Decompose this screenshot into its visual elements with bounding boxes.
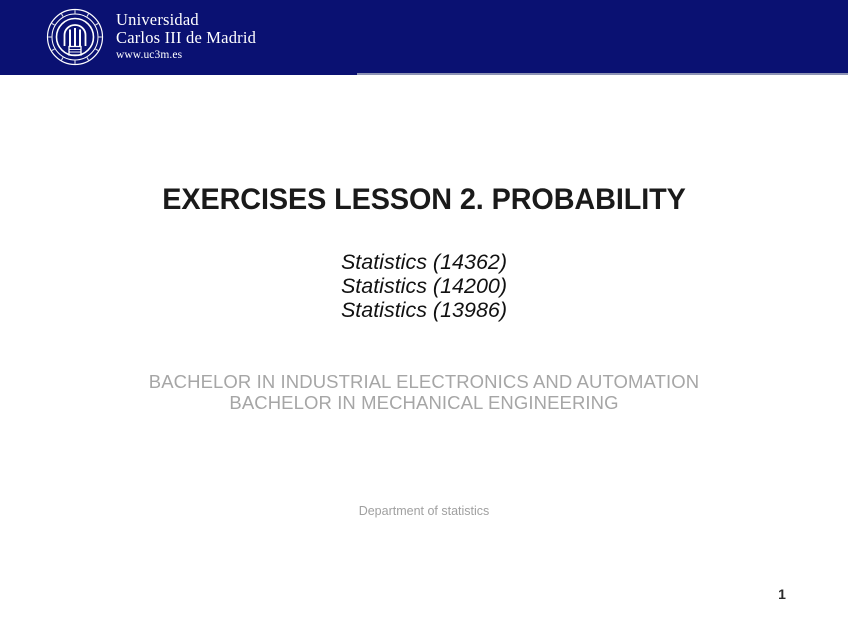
university-wordmark: Universidad Carlos III de Madrid www.uc3… (116, 11, 256, 62)
header-underline-accent (357, 73, 848, 75)
slide-title: EXERCISES LESSON 2. PROBABILITY (17, 183, 831, 217)
page-number: 1 (772, 586, 792, 602)
department-label: Department of statistics (0, 504, 848, 518)
degree-program-item: BACHELOR IN MECHANICAL ENGINEERING (0, 393, 848, 414)
course-code-item: Statistics (14200) (0, 274, 848, 298)
degree-program-item: BACHELOR IN INDUSTRIAL ELECTRONICS AND A… (0, 372, 848, 393)
university-name-line-1: Universidad (116, 11, 256, 28)
uc3m-seal-icon (46, 8, 104, 66)
university-name-line-2: Carlos III de Madrid (116, 29, 256, 46)
course-code-list: Statistics (14362) Statistics (14200) St… (0, 250, 848, 322)
university-logo: Universidad Carlos III de Madrid www.uc3… (46, 8, 256, 66)
header-underline-left-segment (0, 73, 357, 75)
course-code-item: Statistics (14362) (0, 250, 848, 274)
degree-program-list: BACHELOR IN INDUSTRIAL ELECTRONICS AND A… (0, 372, 848, 413)
university-website: www.uc3m.es (116, 49, 256, 61)
course-code-item: Statistics (13986) (0, 298, 848, 322)
